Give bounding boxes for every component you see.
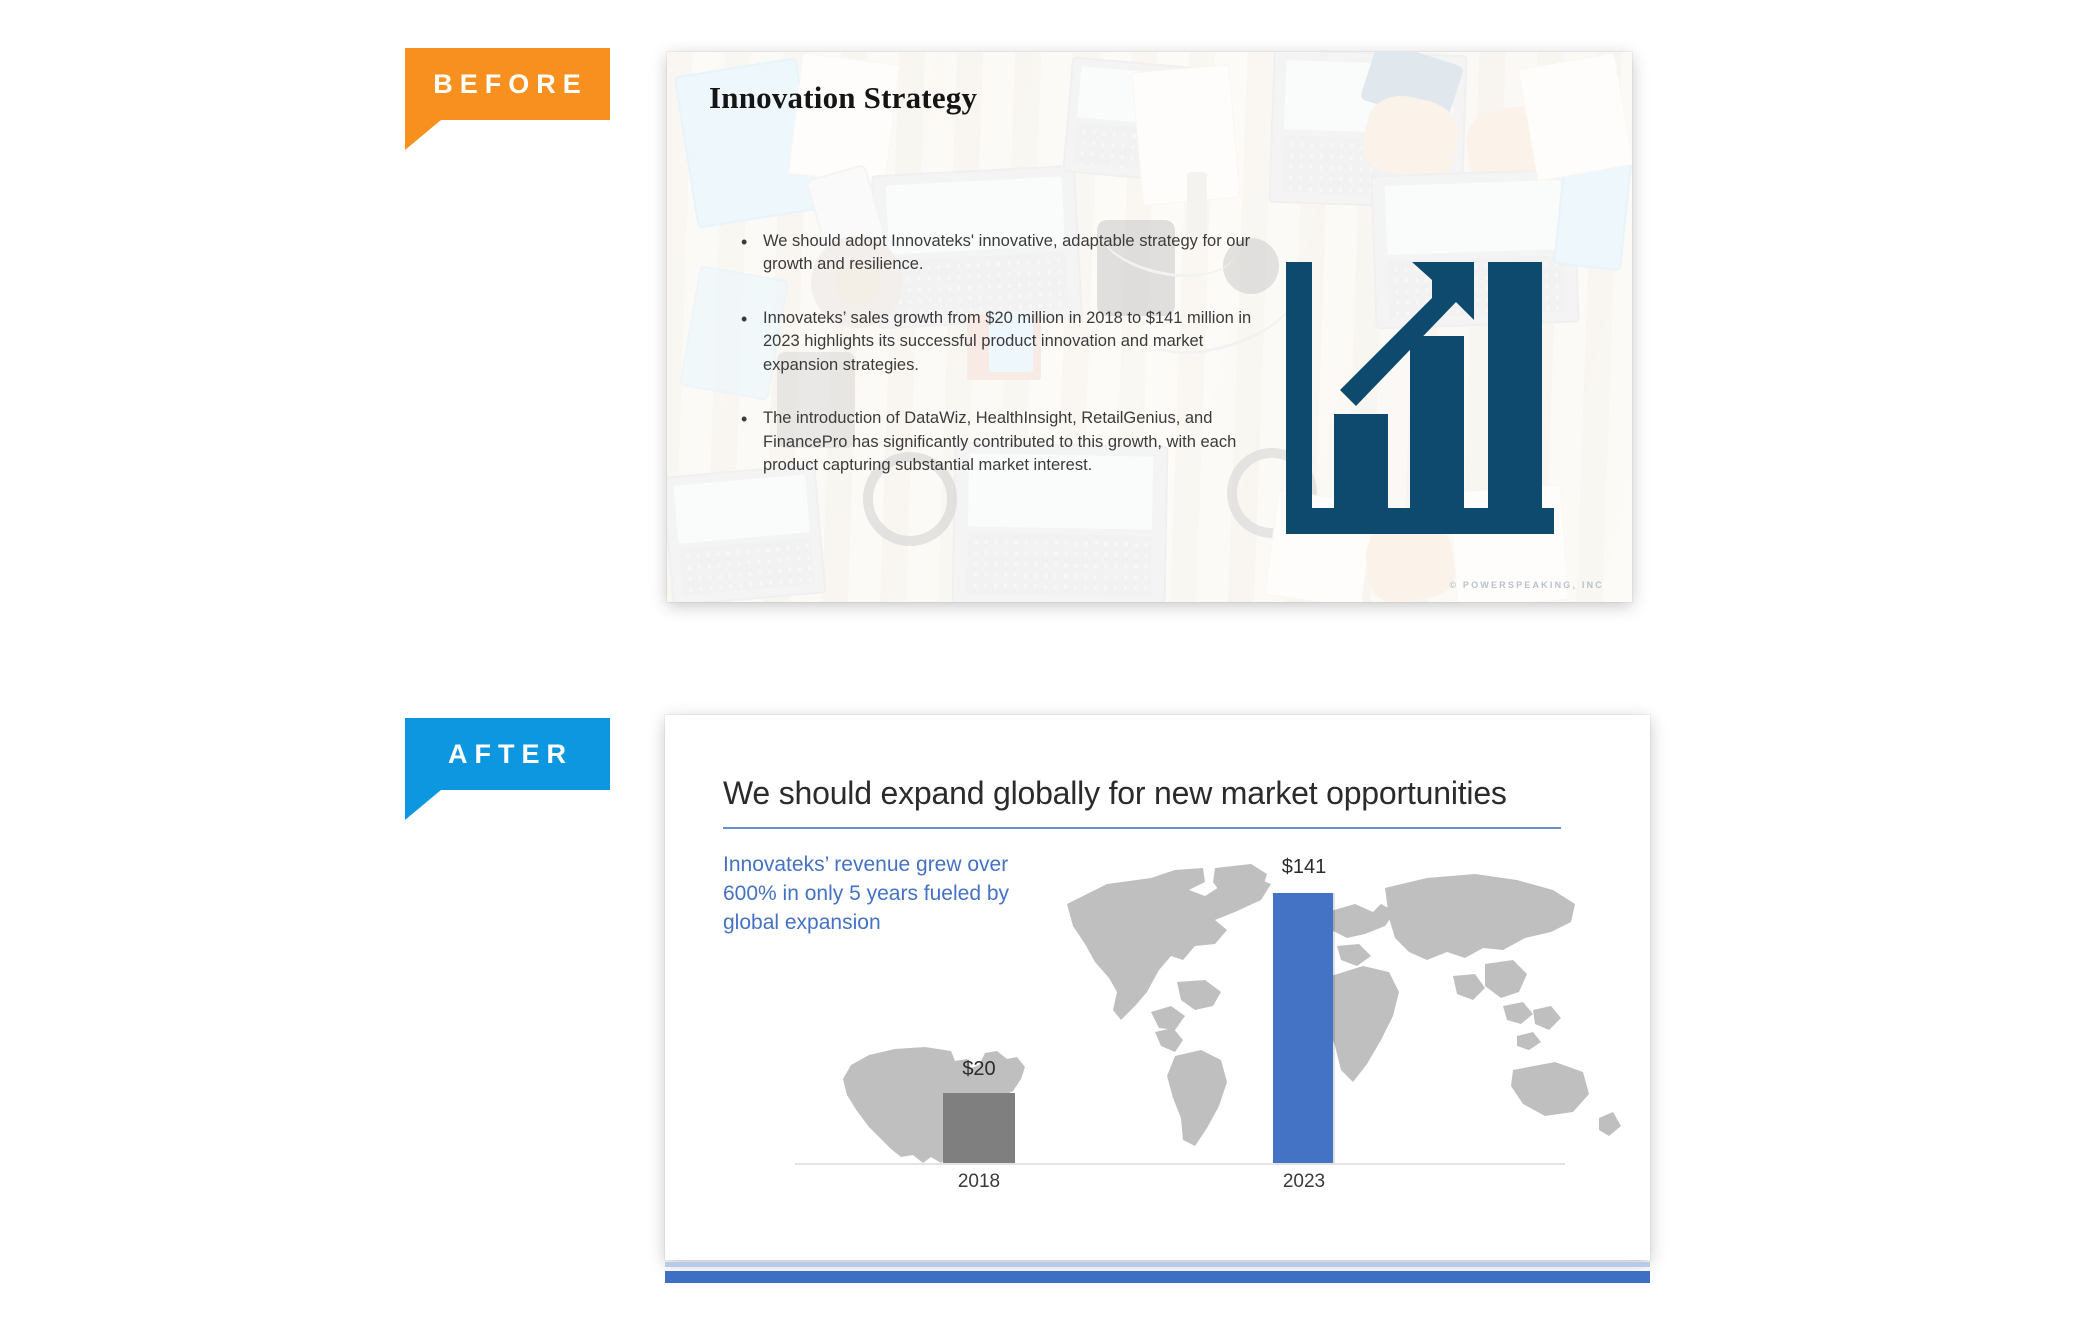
bar-2023	[1273, 893, 1333, 1163]
revenue-growth-chart: $20 $141 2018 2023	[795, 830, 1635, 1250]
bullet-text: The introduction of DataWiz, HealthInsig…	[763, 407, 1261, 477]
after-badge-label: AFTER	[442, 741, 573, 768]
bullet-text: Innovateks’ sales growth from $20 millio…	[763, 307, 1261, 377]
after-badge: AFTER	[405, 718, 610, 790]
bar-chart-growth-icon	[1282, 258, 1582, 568]
before-bullet-list: • We should adopt Innovateks' innovative…	[741, 230, 1261, 507]
bullet-marker: •	[741, 230, 763, 277]
before-badge: BEFORE	[405, 48, 610, 120]
before-badge-box: BEFORE	[405, 48, 610, 120]
before-slide-title: Innovation Strategy	[709, 80, 977, 116]
bullet-marker: •	[741, 407, 763, 477]
bar-value-label-2023: $141	[1249, 856, 1359, 879]
bar-2018	[943, 1093, 1015, 1163]
bullet-marker: •	[741, 307, 763, 377]
bullet-item: • Innovateks’ sales growth from $20 mill…	[741, 307, 1261, 377]
bar-category-label-2018: 2018	[927, 1171, 1031, 1193]
bar-category-label-2023: 2023	[1249, 1171, 1359, 1193]
after-slide-accent-line	[665, 1262, 1650, 1267]
comparison-canvas: BEFORE	[0, 0, 2100, 1332]
bullet-text: We should adopt Innovateks' innovative, …	[763, 230, 1261, 277]
copyright-watermark: © POWERSPEAKING, INC	[1449, 580, 1604, 590]
before-badge-tail	[405, 120, 441, 150]
bullet-item: • The introduction of DataWiz, HealthIns…	[741, 407, 1261, 477]
after-slide-accent-bar	[665, 1271, 1650, 1283]
title-underline-rule	[723, 827, 1561, 829]
chart-axis-line	[795, 1163, 1565, 1165]
before-badge-label: BEFORE	[427, 71, 588, 98]
after-slide[interactable]: We should expand globally for new market…	[665, 715, 1650, 1260]
bar-value-label-2018: $20	[927, 1058, 1031, 1081]
world-map-silhouette	[1055, 860, 1635, 1150]
after-badge-tail	[405, 790, 441, 820]
after-badge-box: AFTER	[405, 718, 610, 790]
after-slide-title: We should expand globally for new market…	[723, 775, 1588, 812]
bullet-item: • We should adopt Innovateks' innovative…	[741, 230, 1261, 277]
before-slide[interactable]: Innovation Strategy • We should adopt In…	[667, 52, 1632, 602]
